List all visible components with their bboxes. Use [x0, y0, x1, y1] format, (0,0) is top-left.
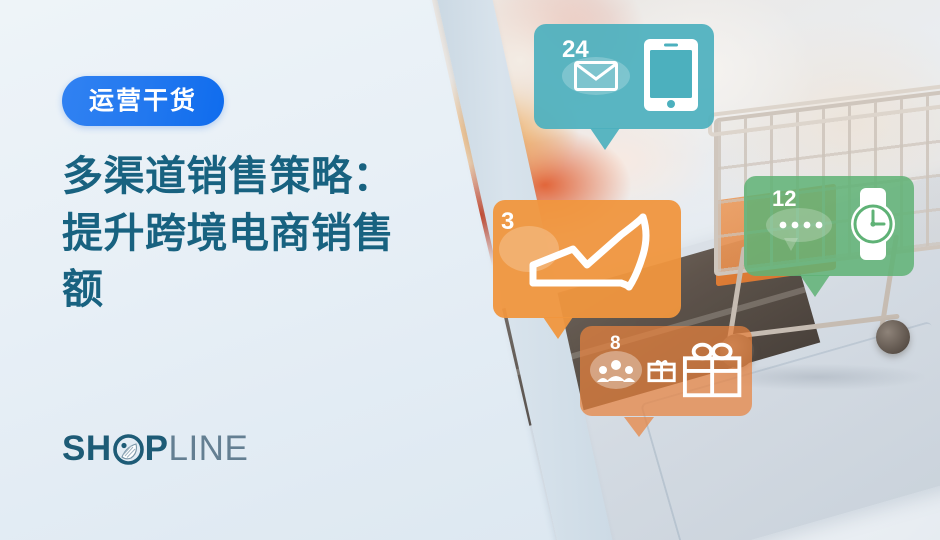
gift-small-icon [647, 355, 676, 383]
tablet-icon [642, 37, 700, 113]
page-title-line-3: 额 [62, 261, 452, 318]
logo-line-text: LINE [168, 431, 248, 466]
chat-bubble-icon [762, 198, 834, 250]
envelope-icon [560, 49, 632, 101]
page-title: 多渠道销售策略： 提升跨境电商销售 额 [62, 148, 452, 318]
logo-p-letter: P [145, 431, 169, 466]
chip-messages: 24 [534, 24, 714, 129]
chip-tail [624, 417, 654, 437]
chip-shoe: 3 [493, 200, 681, 318]
cart-wheel [876, 320, 910, 354]
chip-chat: 12 [744, 176, 914, 276]
chip-tail [543, 317, 573, 339]
shopline-logo: SH P LINE [62, 428, 248, 468]
smartwatch-icon [844, 186, 902, 262]
people-group-icon [590, 347, 641, 391]
category-badge[interactable]: 运营干货 [62, 76, 224, 126]
gift-large-icon [682, 338, 742, 400]
chip-gifts: 8 [580, 326, 752, 416]
cart-axle [730, 314, 899, 340]
chip-tail [590, 128, 620, 150]
chip-tail [800, 275, 830, 297]
page-title-line-1: 多渠道销售策略： [62, 148, 452, 205]
page-title-line-2: 提升跨境电商销售 [62, 205, 452, 262]
chip-shoe-icons [505, 198, 669, 320]
logo-o-mark [113, 434, 144, 465]
category-badge-label: 运营干货 [89, 89, 197, 114]
logo-sh-letters: SH [62, 431, 112, 466]
logo-shop-text: SH P [62, 431, 168, 466]
promo-banner: 24 12 [0, 0, 940, 540]
